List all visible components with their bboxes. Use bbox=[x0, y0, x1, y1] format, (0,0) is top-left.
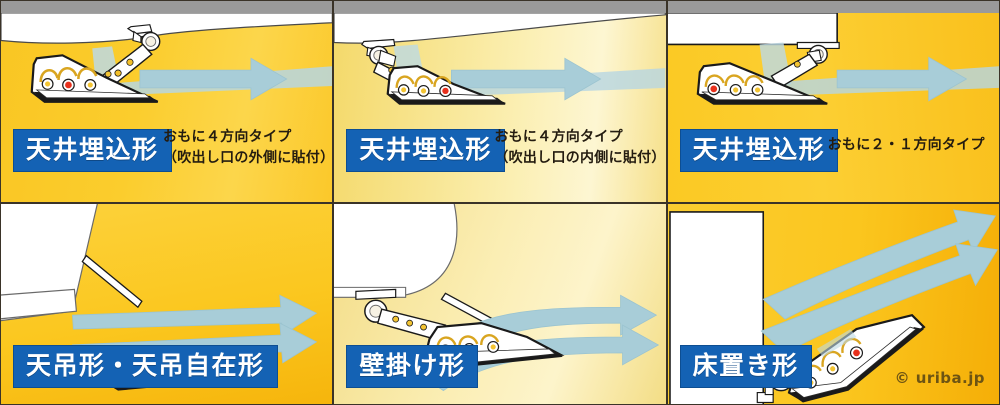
airflow-arrow bbox=[837, 57, 966, 100]
copyright-watermark: © uriba.jp bbox=[895, 369, 985, 387]
panel-ceiling-embedded-4way-outside: 天井埋込形 おもに４方向タイプ （吹出し口の外側に貼付） bbox=[0, 0, 334, 204]
panel-grid: 天井埋込形 おもに４方向タイプ （吹出し口の外側に貼付） bbox=[0, 0, 1000, 405]
badge-ceiling-suspended: 天吊形・天吊自在形 bbox=[13, 345, 278, 388]
badge-floor-standing: 床置き形 bbox=[680, 345, 812, 388]
badge-ceiling-embedded-4way-inside: 天井埋込形 bbox=[346, 129, 505, 172]
badge-wall-mounted: 壁掛け形 bbox=[346, 345, 478, 388]
panel-top-strip bbox=[1, 1, 332, 13]
panel-top-strip bbox=[334, 1, 665, 13]
badge-ceiling-embedded-4way-outside: 天井埋込形 bbox=[13, 129, 172, 172]
panel-ceiling-embedded-4way-inside: 天井埋込形 おもに４方向タイプ （吹出し口の内側に貼付） bbox=[332, 0, 667, 204]
caption-ceiling-embedded-4way-outside: おもに４方向タイプ （吹出し口の外側に貼付） bbox=[163, 127, 332, 169]
badge-ceiling-embedded-2-1way: 天井埋込形 bbox=[680, 129, 839, 172]
panel-wall-mounted: 壁掛け形 bbox=[332, 202, 667, 405]
caption-ceiling-embedded-2-1way: おもに２・１方向タイプ bbox=[828, 135, 985, 156]
panel-top-strip bbox=[668, 1, 999, 13]
panel-ceiling-suspended: 天吊形・天吊自在形 bbox=[0, 202, 334, 405]
panel-floor-standing: 床置き形 © uriba.jp bbox=[666, 202, 1000, 405]
airflow-arrow bbox=[140, 58, 287, 99]
panel-ceiling-embedded-2-1way: 天井埋込形 おもに２・１方向タイプ bbox=[666, 0, 1000, 204]
caption-ceiling-embedded-4way-inside: おもに４方向タイプ （吹出し口の内側に貼付） bbox=[494, 127, 665, 169]
airflow-type-figure: 天井埋込形 おもに４方向タイプ （吹出し口の外側に貼付） bbox=[0, 0, 1000, 405]
